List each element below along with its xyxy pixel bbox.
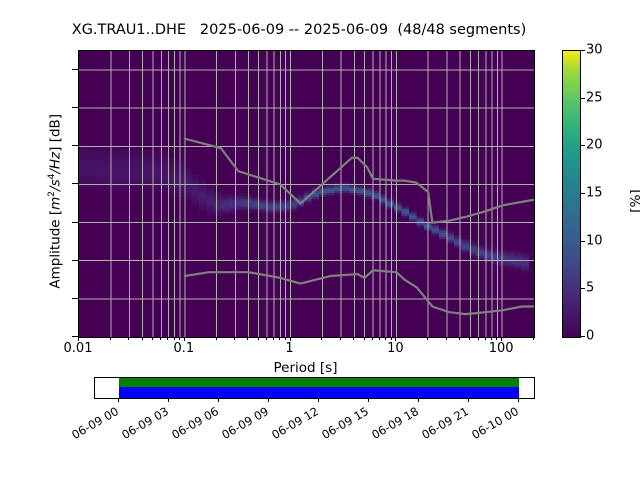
x-minor-tick-mark — [160, 337, 161, 340]
x-minor-tick-mark — [273, 337, 274, 340]
x-minor-tick-mark — [266, 337, 267, 340]
x-tick-mark — [184, 337, 185, 341]
x-minor-tick-mark — [372, 337, 373, 340]
y-tick-mark — [72, 298, 78, 299]
x-minor-tick-mark — [258, 337, 259, 340]
x-minor-tick-mark — [379, 337, 380, 340]
x-minor-tick-mark — [469, 337, 470, 340]
colorbar-tick-label: 25 — [586, 90, 603, 105]
time-tick-mark — [218, 398, 219, 402]
time-tick-label: 06-09 06 — [160, 404, 221, 447]
x-minor-tick-mark — [279, 337, 280, 340]
time-tick-mark — [518, 398, 519, 402]
x-minor-tick-mark — [142, 337, 143, 340]
time-tick-mark — [318, 398, 319, 402]
y-tick-mark — [72, 69, 78, 70]
x-minor-tick-mark — [496, 337, 497, 340]
colorbar-tick-mark — [580, 98, 585, 99]
x-minor-tick-mark — [167, 337, 168, 340]
x-tick-label: 0.01 — [64, 341, 93, 356]
coverage-segment-blue — [119, 387, 518, 398]
x-minor-tick-mark — [174, 337, 175, 340]
time-tick-label: 06-10 00 — [460, 404, 521, 447]
colorbar-tick-label: 10 — [586, 233, 603, 248]
time-tick-label: 06-09 21 — [410, 404, 471, 447]
x-minor-tick-mark — [478, 337, 479, 340]
x-axis-label: Period [s] — [78, 360, 533, 376]
time-tick-mark — [168, 398, 169, 402]
colorbar-tick-mark — [580, 336, 585, 337]
x-minor-tick-mark — [110, 337, 111, 340]
x-tick-mark — [78, 337, 79, 341]
x-tick-mark — [501, 337, 502, 341]
x-minor-tick-mark — [485, 337, 486, 340]
x-tick-label: 10 — [387, 341, 404, 356]
y-tick-mark — [72, 145, 78, 146]
x-minor-tick-mark — [364, 337, 365, 340]
time-tick-mark — [118, 398, 119, 402]
x-minor-tick-mark — [391, 337, 392, 340]
colorbar-tick-label: 0 — [586, 329, 594, 344]
x-minor-tick-mark — [216, 337, 217, 340]
x-minor-tick-mark — [533, 337, 534, 340]
x-minor-tick-mark — [247, 337, 248, 340]
colorbar-tick-label: 30 — [586, 43, 603, 58]
time-tick-mark — [268, 398, 269, 402]
x-minor-tick-mark — [234, 337, 235, 340]
colorbar-label: [%] — [628, 141, 640, 261]
y-tick-mark — [72, 260, 78, 261]
x-minor-tick-mark — [321, 337, 322, 340]
ppsd-figure: XG.TRAU1..DHE 2025-06-09 -- 2025-06-09 (… — [0, 0, 640, 480]
time-tick-mark — [468, 398, 469, 402]
ppsd-canvas — [79, 51, 534, 337]
psd-density-layer — [79, 145, 529, 273]
x-tick-mark — [290, 337, 291, 341]
x-minor-tick-mark — [459, 337, 460, 340]
x-minor-tick-mark — [427, 337, 428, 340]
time-tick-label: 06-09 12 — [260, 404, 321, 447]
y-axis-label: Amplitude [m2/s4/Hz] [dB] — [47, 51, 64, 351]
x-minor-tick-mark — [340, 337, 341, 340]
x-minor-tick-mark — [128, 337, 129, 340]
x-tick-mark — [395, 337, 396, 341]
x-minor-tick-mark — [285, 337, 286, 340]
data-coverage-bar — [94, 377, 535, 399]
coverage-segment-green — [119, 378, 518, 387]
colorbar-tick-label: 15 — [586, 186, 603, 201]
ppsd-plot-area — [78, 50, 535, 338]
colorbar-tick-mark — [580, 193, 585, 194]
colorbar-tick-mark — [580, 145, 585, 146]
x-minor-tick-mark — [385, 337, 386, 340]
time-tick-mark — [368, 398, 369, 402]
time-tick-label: 06-09 03 — [110, 404, 171, 447]
time-tick-label: 06-09 15 — [310, 404, 371, 447]
colorbar-tick-mark — [580, 288, 585, 289]
x-minor-tick-mark — [179, 337, 180, 340]
time-tick-mark — [418, 398, 419, 402]
colorbar-tick-mark — [580, 241, 585, 242]
time-tick-label: 06-09 00 — [60, 404, 121, 447]
y-tick-mark — [72, 183, 78, 184]
x-minor-tick-mark — [446, 337, 447, 340]
page-title: XG.TRAU1..DHE 2025-06-09 -- 2025-06-09 (… — [0, 22, 598, 38]
y-tick-mark — [72, 107, 78, 108]
colorbar-tick-label: 20 — [586, 138, 603, 153]
x-tick-label: 1 — [285, 341, 293, 356]
colorbar — [562, 50, 581, 338]
x-minor-tick-mark — [491, 337, 492, 340]
noise-model-curves — [185, 139, 534, 314]
colorbar-tick-mark — [580, 50, 585, 51]
y-tick-mark — [72, 222, 78, 223]
colorbar-tick-label: 5 — [586, 281, 594, 296]
time-tick-label: 06-09 09 — [210, 404, 271, 447]
x-tick-label: 0.1 — [173, 341, 194, 356]
x-tick-label: 100 — [489, 341, 514, 356]
time-tick-label: 06-09 18 — [360, 404, 421, 447]
x-minor-tick-mark — [152, 337, 153, 340]
x-minor-tick-mark — [353, 337, 354, 340]
